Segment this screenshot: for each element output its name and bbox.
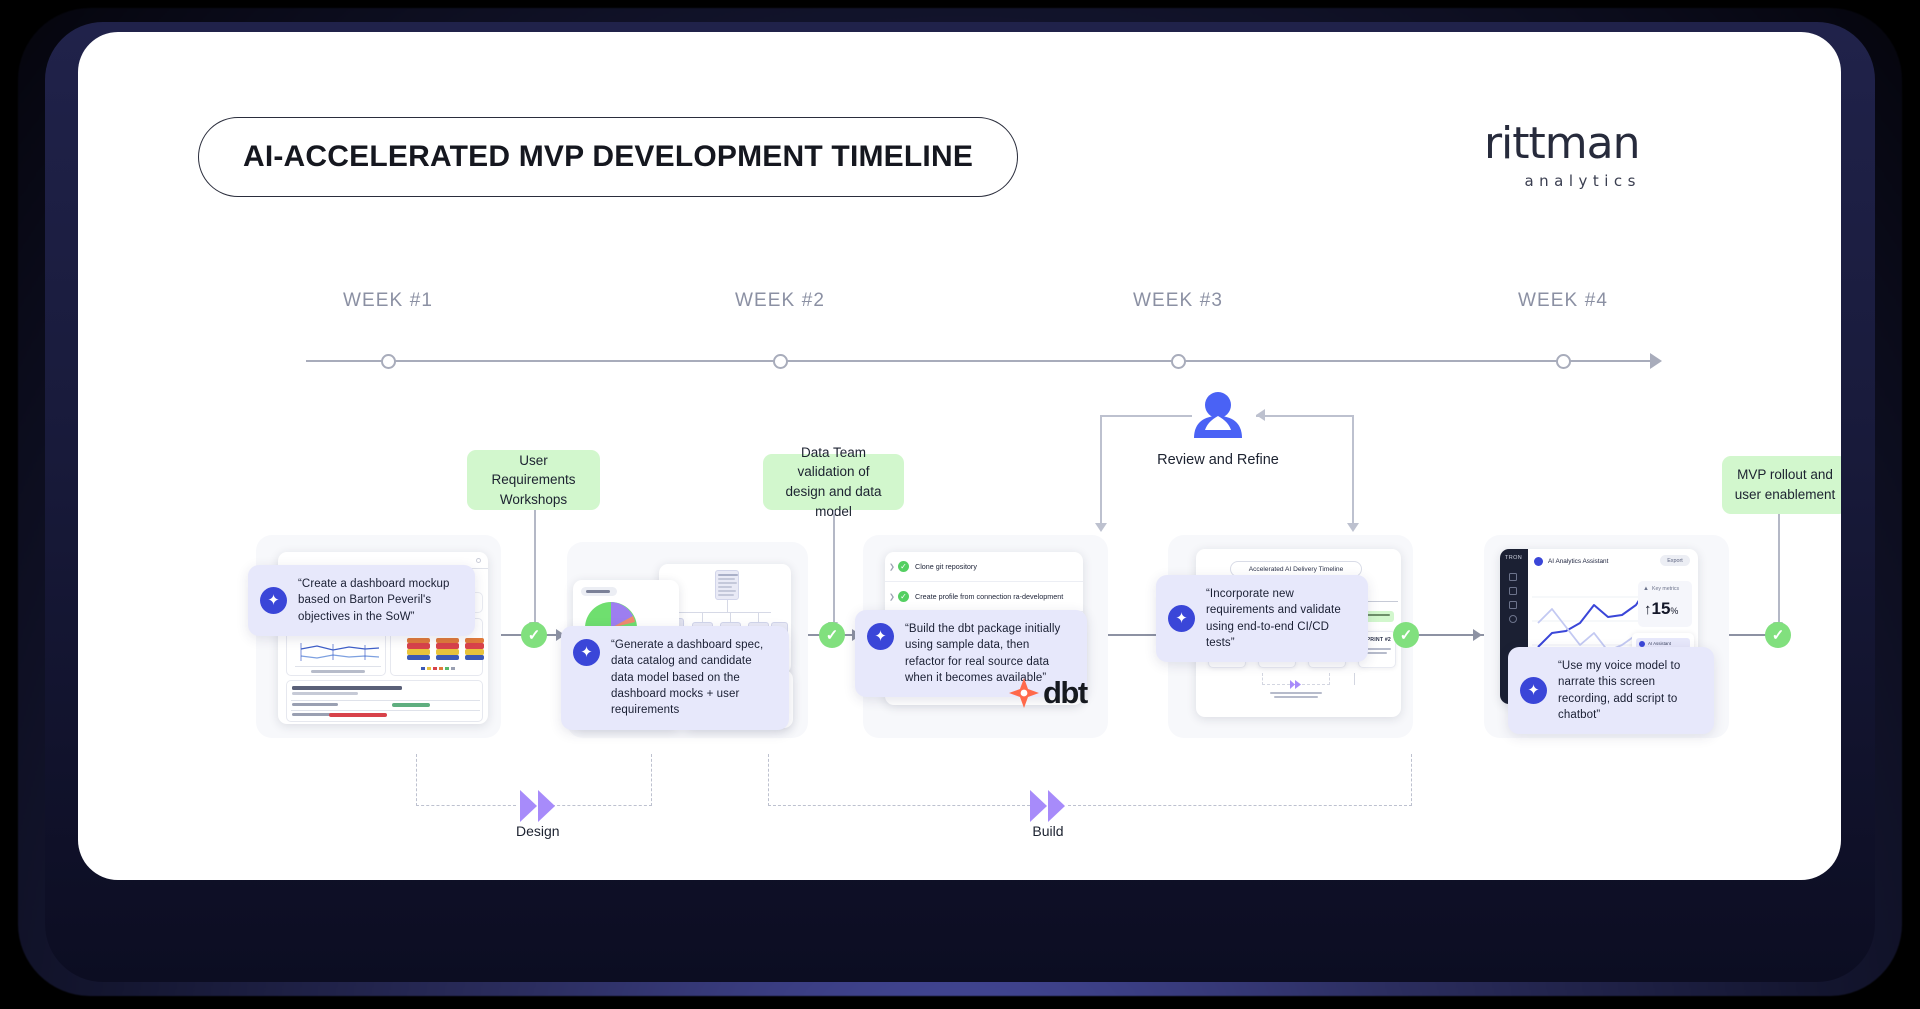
card-5-metric-label: Key metrics [1652, 586, 1679, 592]
timeline-axis-line [306, 360, 1654, 362]
ai-sparkle-icon: ✦ [867, 623, 894, 650]
ai-sparkle-icon: ✦ [260, 587, 287, 614]
card-3-step-2[interactable]: ❯ ✓ Create profile from connection ra-de… [885, 582, 1083, 612]
doc-icon[interactable] [1509, 601, 1517, 609]
refine-loop-left-leg [1100, 415, 1102, 525]
ai-sparkle-icon: ✦ [1520, 677, 1547, 704]
refine-loop-left-arrow-icon [1095, 523, 1107, 532]
timeline-node-week2 [773, 354, 788, 369]
card-4-ai-prompt[interactable]: ✦ “Incorporate new requirements and vali… [1156, 575, 1368, 662]
card-5-ai-prompt[interactable]: ✦ “Use my voice model to narrate this sc… [1508, 647, 1714, 734]
note-user-requirements-text: User Requirements Workshops [479, 451, 588, 510]
card-2-ai-prompt[interactable]: ✦ “Generate a dashboard spec, data catal… [561, 626, 789, 730]
note-data-validation: Data Team validation of design and data … [763, 454, 904, 510]
double-chevron-right-icon [1028, 789, 1068, 823]
timeline-node-week4 [1556, 354, 1571, 369]
note-user-requirements: User Requirements Workshops [467, 450, 600, 510]
card-4-mini-note [1364, 611, 1394, 622]
card-5-prompt-text: “Use my voice model to narrate this scre… [1558, 658, 1698, 723]
phase-label-build: Build [1032, 823, 1063, 839]
card-1-help-icon [476, 558, 481, 563]
card-ai-assistant[interactable]: TRON AI Analytics Assistant Export [1484, 535, 1729, 738]
timeline-week-label-3: WEEK #3 [1133, 290, 1223, 312]
card-5-kpi-tile: Key metrics ▲ ↑ 15 % [1638, 581, 1692, 627]
timeline-node-week1 [381, 354, 396, 369]
timeline-week-label-2: WEEK #2 [735, 290, 825, 312]
check-icon: ✓ [898, 591, 909, 602]
erd-link-stem [727, 600, 728, 612]
trend-icon: ▲ [1643, 586, 1649, 592]
connector-5-check-badge: ✓ [1765, 622, 1791, 648]
chevron-right-icon: ❯ [889, 563, 895, 571]
card-5-metric-unit: % [1670, 606, 1678, 616]
dbt-mark-icon [1008, 677, 1040, 709]
card-5-app-brand: TRON [1505, 555, 1522, 561]
brand-logo-tagline: analytics [1482, 172, 1641, 190]
ai-sparkle-icon [1534, 557, 1543, 566]
card-3-step-1-label: Clone git repository [915, 562, 977, 571]
card-2-badge [581, 587, 617, 596]
dbt-wordmark: dbt [1043, 675, 1087, 711]
card-spec-catalog-model[interactable]: ✦ “Generate a dashboard spec, data catal… [567, 542, 808, 738]
card-ci-cd-validation[interactable]: Accelerated AI Delivery Timeline WEEK #1… [1168, 535, 1413, 738]
phase-marker-build: Build [1028, 789, 1068, 841]
card-5-chat-item-1-label: AI Assistant [1648, 641, 1671, 646]
gear-icon[interactable] [1509, 615, 1517, 623]
card-dashboard-mockup[interactable]: ✦ “Create a dashboard mockup based on Ba… [256, 535, 501, 738]
card-3-step-1[interactable]: ❯ ✓ Clone git repository [885, 552, 1083, 582]
double-chevron-right-icon [516, 789, 560, 823]
note-mvp-rollout-text: MVP rollout and user enablement [1735, 465, 1836, 504]
connector-2-check-badge: ✓ [819, 622, 845, 648]
dbt-logo: dbt [1008, 675, 1087, 711]
brand-logo: rittman analytics [1482, 122, 1641, 190]
ai-sparkle-icon: ✦ [573, 639, 600, 666]
erd-root-node [715, 570, 739, 600]
check-icon: ✓ [898, 561, 909, 572]
note-stem-1 [534, 510, 536, 624]
card-1-table [286, 680, 483, 722]
timeline-week-label-4: WEEK #4 [1518, 290, 1608, 312]
phase-bracket-build [768, 754, 1412, 806]
slide-canvas: AI-ACCELERATED MVP DEVELOPMENT TIMELINE … [78, 32, 1841, 880]
chevron-right-icon: ❯ [889, 593, 895, 601]
connector-4-arrow-icon [1473, 629, 1482, 641]
phase-label-design: Design [516, 823, 560, 839]
note-line-1: MVP rollout and [1735, 465, 1836, 485]
refine-label: Review and Refine [1157, 452, 1279, 468]
ai-sparkle-icon [1639, 641, 1645, 647]
page-title-pill: AI-ACCELERATED MVP DEVELOPMENT TIMELINE [198, 117, 1018, 197]
card-dbt-build[interactable]: ❯ ✓ Clone git repository ❯ ✓ Create prof… [863, 535, 1108, 738]
person-icon [1191, 392, 1245, 438]
refine-loop-right-leg [1352, 415, 1354, 525]
note-line-1: Data Team validation of [775, 443, 892, 482]
card-4-prompt-text: “Incorporate new requirements and valida… [1206, 586, 1352, 651]
phase-marker-design: Design [516, 789, 560, 841]
note-stem-2 [833, 510, 835, 624]
timeline-week-label-1: WEEK #1 [343, 290, 433, 312]
brand-logo-name: rittman [1482, 122, 1641, 166]
connector-4-check-badge: ✓ [1393, 622, 1419, 648]
note-stem-3 [1778, 514, 1780, 624]
card-5-metric-direction: ↑ [1644, 601, 1652, 618]
erd-link-bus [671, 612, 771, 613]
timeline-node-week3 [1171, 354, 1186, 369]
refine-loop-top-left [1100, 415, 1192, 417]
note-mvp-rollout: MVP rollout and user enablement [1722, 456, 1841, 514]
card-3-step-2-label: Create profile from connection ra-develo… [915, 592, 1063, 601]
card-5-metric-value: 15 [1652, 599, 1671, 619]
refine-loop-inbound-arrow-icon [1256, 409, 1265, 421]
double-chevron-right-icon [1290, 680, 1302, 689]
card-5-export-button[interactable]: Export [1660, 555, 1690, 566]
refine-loop-right-arrow-icon [1347, 523, 1359, 532]
note-line-2: user enablement [1735, 485, 1836, 505]
home-icon[interactable] [1509, 573, 1517, 581]
card-1-prompt-text: “Create a dashboard mockup based on Bart… [298, 576, 459, 625]
card-1-ai-prompt[interactable]: ✦ “Create a dashboard mockup based on Ba… [248, 565, 475, 636]
card-2-prompt-text: “Generate a dashboard spec, data catalog… [611, 637, 773, 719]
page-title: AI-ACCELERATED MVP DEVELOPMENT TIMELINE [243, 140, 973, 174]
refine-loop-top-right [1256, 415, 1354, 417]
timeline-axis-arrow-icon [1650, 353, 1662, 369]
chart-icon[interactable] [1509, 587, 1517, 595]
ai-sparkle-icon: ✦ [1168, 605, 1195, 632]
note-line-1: User Requirements [479, 451, 588, 490]
note-line-2: Workshops [479, 490, 588, 510]
card-5-app-name: AI Analytics Assistant [1548, 558, 1608, 565]
connector-1-check-badge: ✓ [521, 622, 547, 648]
